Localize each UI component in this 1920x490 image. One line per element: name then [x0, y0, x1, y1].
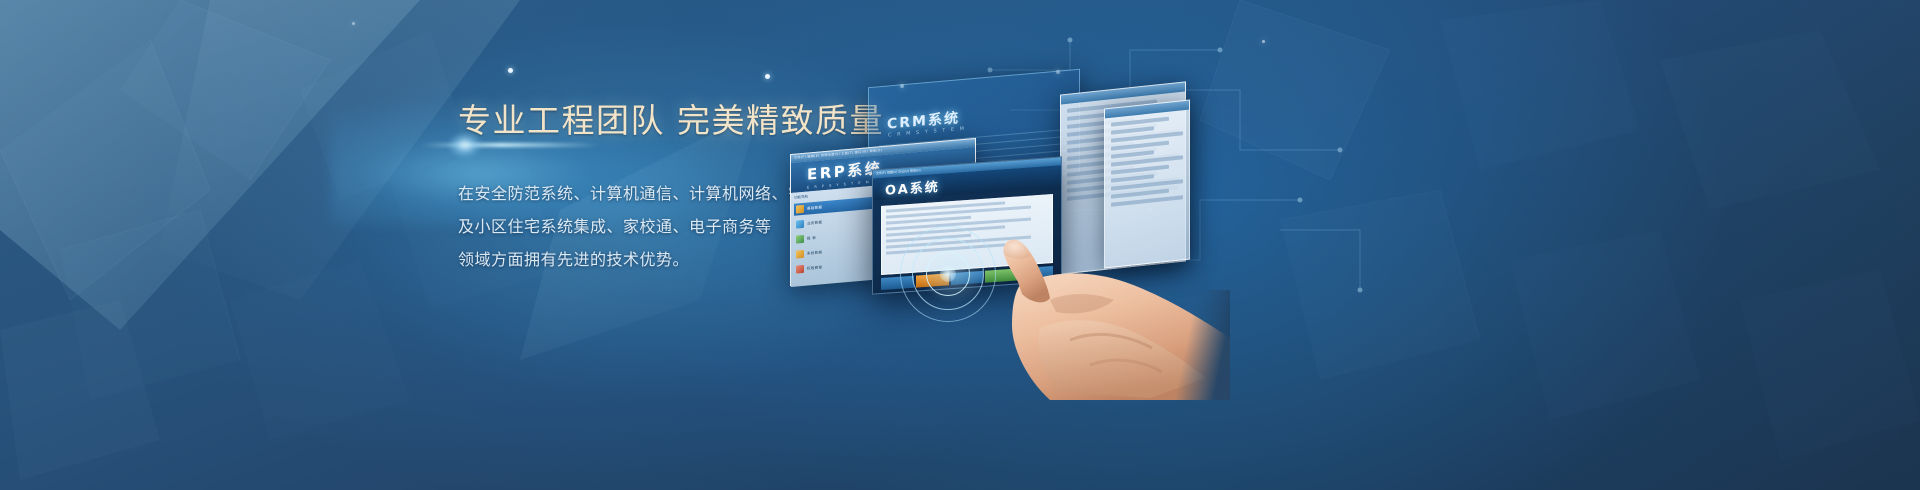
window-oa[interactable]: 文件(F) 视图(V) 办公(O) 帮助(H) OA系统	[872, 156, 1062, 294]
settings-icon	[796, 250, 804, 259]
taskbar-button[interactable]	[951, 271, 984, 285]
erp-nav-label: 报 表	[807, 235, 816, 241]
oa-title: OA系统	[885, 175, 940, 198]
decorative-polygons-right	[1180, 0, 1920, 490]
window-content	[1105, 110, 1189, 217]
report-icon	[796, 235, 804, 244]
taskbar-button[interactable]	[985, 268, 1018, 282]
erp-nav-label: 权限管理	[807, 265, 822, 271]
erp-nav-label: 基础数据	[807, 205, 822, 211]
oa-body	[873, 187, 1061, 295]
window-right-front[interactable]	[1104, 99, 1190, 268]
oa-content-area[interactable]	[881, 194, 1053, 275]
hero-description: 在安全防范系统、计算机通信、计算机网络、智能大厦 及小区住宅系统集成、家校通、电…	[458, 177, 798, 276]
star-dot	[508, 68, 513, 73]
taskbar-button[interactable]	[881, 276, 914, 290]
description-line-1: 在安全防范系统、计算机通信、计算机网络、智能大厦	[458, 177, 798, 210]
lock-icon	[796, 265, 804, 274]
page-title: 专业工程团队 完美精致质量	[458, 103, 798, 139]
hero-banner: 专业工程团队 完美精致质量 在安全防范系统、计算机通信、计算机网络、智能大厦 及…	[0, 0, 1920, 490]
erp-nav-label: 业务数据	[807, 220, 822, 226]
description-line-3: 领域方面拥有先进的技术优势。	[458, 243, 798, 276]
star-dot	[352, 22, 355, 25]
description-line-2: 及小区住宅系统集成、家校通、电子商务等	[458, 210, 798, 243]
folder-icon	[796, 205, 804, 214]
database-icon	[796, 220, 804, 229]
star-dot	[765, 74, 770, 79]
hero-text-block: 专业工程团队 完美精致质量 在安全防范系统、计算机通信、计算机网络、智能大厦 及…	[458, 103, 798, 276]
taskbar-button[interactable]	[1020, 266, 1053, 280]
star-dot	[1262, 40, 1265, 43]
taskbar-button[interactable]	[916, 273, 949, 287]
erp-nav-label: 系统数据	[807, 250, 822, 256]
